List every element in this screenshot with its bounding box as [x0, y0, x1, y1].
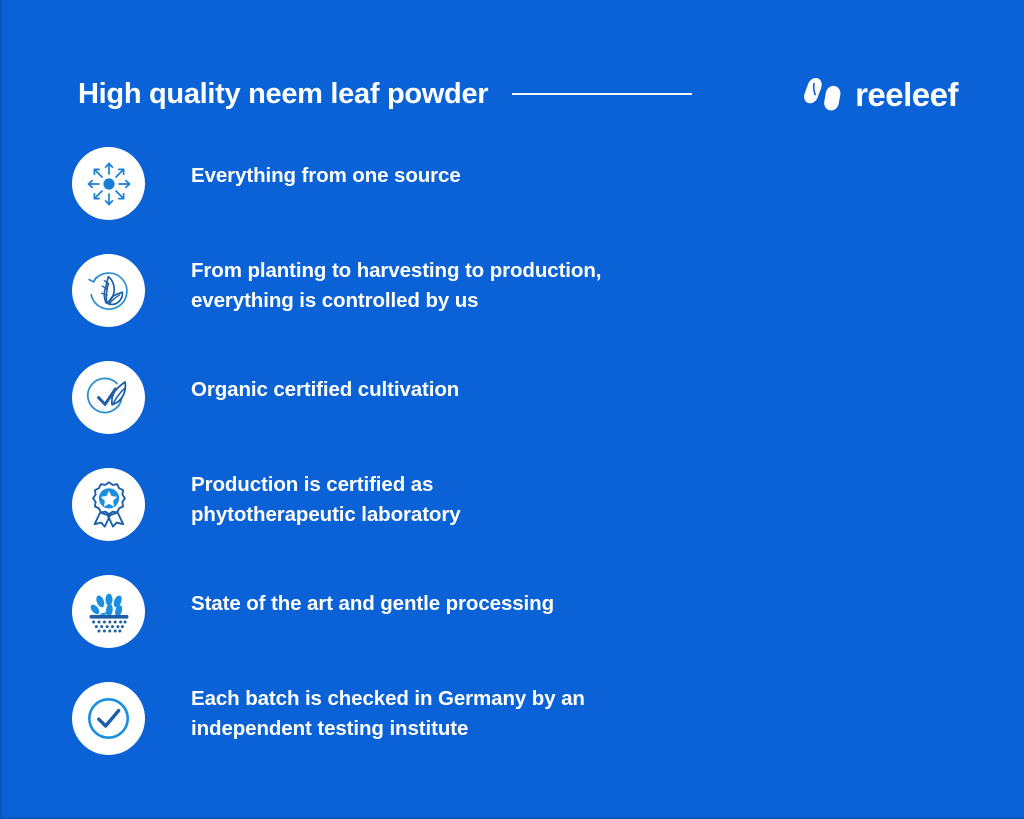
list-item-text: Organic certified cultivation — [191, 357, 459, 405]
list-item-line: From planting to harvesting to productio… — [191, 256, 601, 286]
page-title: High quality neem leaf powder — [78, 80, 488, 109]
poster-header: High quality neem leaf powder reeleef — [78, 66, 958, 122]
list-item-line: Production is certified as — [191, 470, 461, 500]
list-item-line: independent testing institute — [191, 714, 585, 744]
list-item: Production is certified as phytotherapeu… — [72, 464, 984, 571]
check-leaf-icon — [72, 361, 145, 434]
brand-logo: reeleef — [803, 77, 958, 111]
list-item: Everything from one source — [72, 143, 984, 250]
radiating-arrows-icon — [72, 147, 145, 220]
list-item-line: Each batch is checked in Germany by an — [191, 684, 585, 714]
list-item-text: Each batch is checked in Germany by an i… — [191, 678, 585, 744]
award-rosette-icon — [72, 468, 145, 541]
check-circle-icon — [72, 682, 145, 755]
header-divider — [512, 93, 692, 95]
brand-name: reeleef — [855, 78, 958, 111]
list-item: From planting to harvesting to productio… — [72, 250, 984, 357]
list-item-text: State of the art and gentle processing — [191, 571, 554, 619]
list-item: Organic certified cultivation — [72, 357, 984, 464]
leaf-capsules-icon — [803, 77, 845, 111]
list-item-text: Everything from one source — [191, 143, 461, 191]
poster-canvas: High quality neem leaf powder reeleef — [0, 0, 1024, 819]
list-item-text: Production is certified as phytotherapeu… — [191, 464, 461, 530]
list-item-line: Organic certified cultivation — [191, 375, 459, 405]
list-item-text: From planting to harvesting to productio… — [191, 250, 601, 316]
list-item: Each batch is checked in Germany by an i… — [72, 678, 984, 785]
list-item-line: everything is controlled by us — [191, 286, 601, 316]
list-item: State of the art and gentle processing — [72, 571, 984, 678]
list-item-line: State of the art and gentle processing — [191, 589, 554, 619]
leaf-cycle-icon — [72, 254, 145, 327]
list-item-line: phytotherapeutic laboratory — [191, 500, 461, 530]
sieve-plant-icon — [72, 575, 145, 648]
feature-list: Everything from one source From planting… — [72, 143, 984, 785]
list-item-line: Everything from one source — [191, 161, 461, 191]
